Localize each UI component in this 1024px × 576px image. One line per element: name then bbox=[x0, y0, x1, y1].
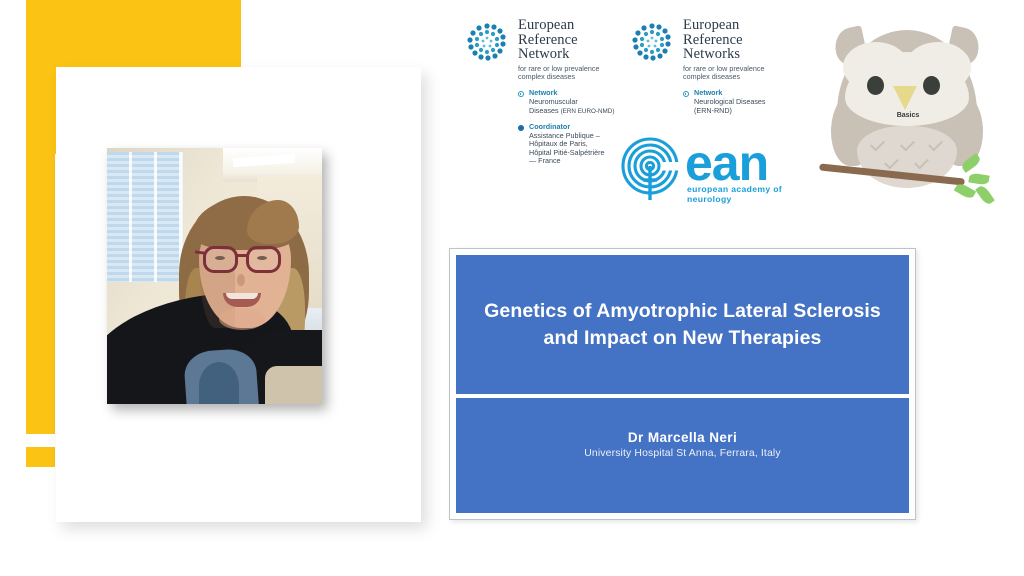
speaker-photo bbox=[107, 148, 322, 404]
slide-title-box: Genetics of Amyotrophic Lateral Sclerosi… bbox=[456, 255, 909, 394]
slide-author-box: Dr Marcella Neri University Hospital St … bbox=[456, 398, 909, 513]
owl-basics-label: Basics bbox=[875, 112, 941, 119]
ern-title-line3: Network bbox=[518, 47, 630, 62]
ern-network-block: Network Neuromuscular Diseases (ERN EURO… bbox=[518, 89, 630, 116]
ern-coordinator-line4: — France bbox=[529, 157, 630, 166]
owl-leaf-3 bbox=[954, 182, 976, 201]
ean-logo: ean european academy of neurology bbox=[617, 136, 817, 208]
ern-euro-nmd-logo: European Reference Network for rare or l… bbox=[465, 18, 630, 166]
ern2-title-line2: Reference bbox=[683, 33, 795, 48]
slide-title-line1: Genetics of Amyotrophic Lateral Sclerosi… bbox=[484, 298, 881, 325]
owl-leaf-2 bbox=[968, 172, 989, 185]
slide-author-affiliation: University Hospital St Anna, Ferrara, It… bbox=[584, 448, 780, 459]
ern2-title-line1: European bbox=[683, 18, 795, 33]
ern-network-code: (ERN EURO-NMD) bbox=[561, 108, 615, 115]
owl-eye-left bbox=[867, 76, 884, 95]
slide-title: Genetics of Amyotrophic Lateral Sclerosi… bbox=[468, 298, 897, 352]
slide-title-line2: and Impact on New Therapies bbox=[484, 325, 881, 352]
ern-network-value-2: Diseases bbox=[529, 106, 559, 115]
ern-title-line1: European bbox=[518, 18, 630, 33]
ern2-network-block: Network Neurological Diseases (ERN-RND) bbox=[683, 89, 795, 115]
ean-wordmark: ean bbox=[685, 138, 768, 188]
ring-dot-icon bbox=[518, 91, 524, 97]
ern-tagline-line2: complex diseases bbox=[518, 73, 630, 81]
ern-rnd-logo: European Reference Networks for rare or … bbox=[630, 18, 795, 115]
ern2-network-code: (ERN-RND) bbox=[694, 107, 795, 116]
ern-dot-spiral-icon bbox=[630, 20, 674, 64]
ean-labyrinth-icon bbox=[617, 136, 689, 202]
owl-mascot: Basics bbox=[805, 8, 1010, 213]
owl-eye-right bbox=[923, 76, 940, 95]
presentation-title-slide-canvas: European Reference Network for rare or l… bbox=[0, 0, 1024, 576]
ern-title-line2: Reference bbox=[518, 33, 630, 48]
ern2-title-line3: Networks bbox=[683, 47, 795, 62]
ern-dot-spiral-icon bbox=[465, 20, 509, 64]
ring-dot-icon bbox=[683, 91, 689, 97]
title-slide: Genetics of Amyotrophic Lateral Sclerosi… bbox=[449, 248, 916, 520]
solid-dot-icon bbox=[518, 125, 524, 131]
owl-leaf-4 bbox=[975, 184, 995, 206]
yellow-vertical-bar bbox=[26, 0, 55, 434]
yellow-tab-shape bbox=[26, 447, 55, 467]
owl-beak bbox=[893, 86, 917, 110]
ean-tagline: european academy of neurology bbox=[687, 184, 817, 204]
logo-row: European Reference Network for rare or l… bbox=[455, 8, 1015, 213]
ern-coordinator-block: Coordinator Assistance Publique – Hôpita… bbox=[518, 123, 630, 166]
ern2-tagline-line2: complex diseases bbox=[683, 73, 795, 81]
slide-author-name: Dr Marcella Neri bbox=[628, 430, 737, 445]
